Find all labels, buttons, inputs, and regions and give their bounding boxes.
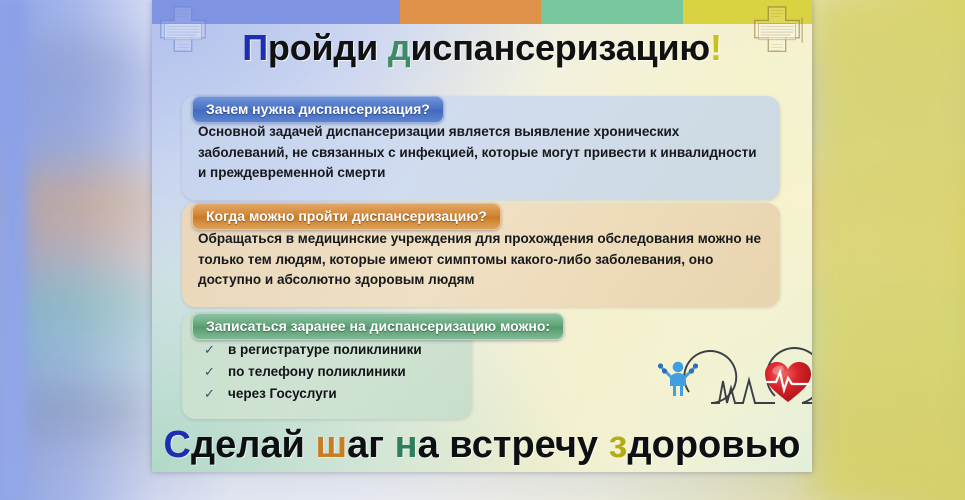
top-band-orange bbox=[400, 0, 542, 24]
check-icon: ✓ bbox=[204, 339, 214, 360]
backdrop-left-edge bbox=[0, 0, 26, 500]
info-block-why: Зачем нужна диспансеризация? Основной за… bbox=[182, 96, 780, 200]
check-icon: ✓ bbox=[204, 361, 214, 382]
info-block-signup: Записаться заранее на диспансеризацию мо… bbox=[182, 313, 472, 419]
person-dumbbells-icon bbox=[658, 362, 698, 396]
slogan-word-zdorovyu: доровью bbox=[628, 424, 801, 466]
block-header-pill-why: Зачем нужна диспансеризация? bbox=[192, 96, 444, 123]
title-word-proydi: ройди bbox=[268, 27, 388, 68]
slogan-initial-n: н bbox=[395, 424, 418, 466]
poster-slogan: Сделай шаг на встречу здоровью bbox=[152, 426, 812, 464]
list-item-label: в регистратуре поликлиники bbox=[228, 339, 422, 361]
info-block-when: Когда можно пройти диспансеризацию? Обра… bbox=[182, 203, 780, 307]
health-icons-group bbox=[647, 340, 812, 418]
list-item-label: через Госуслуги bbox=[228, 383, 337, 405]
poster-title: Пройди диспансеризацию! bbox=[152, 30, 812, 66]
slogan-word-sdelay: делай bbox=[191, 424, 315, 466]
slogan-word-navstrechu: а встречу bbox=[418, 424, 609, 466]
slogan-initial-sh: ш bbox=[315, 424, 347, 466]
title-exclamation: ! bbox=[710, 27, 722, 68]
list-item: ✓ через Госуслуги bbox=[204, 383, 456, 405]
title-word-dispanserizatsiyu: испансеризацию bbox=[410, 27, 709, 68]
slogan-initial-s: С bbox=[164, 424, 191, 466]
block-body-when: Обращаться в медицинские учреждения для … bbox=[198, 229, 764, 291]
list-item: ✓ по телефону поликлиники bbox=[204, 361, 456, 383]
title-initial-p: П bbox=[242, 27, 268, 68]
title-initial-d: д bbox=[388, 27, 411, 68]
heart-pulse-icon bbox=[765, 362, 811, 402]
check-icon: ✓ bbox=[204, 383, 214, 404]
slogan-initial-z: з bbox=[609, 424, 628, 466]
signup-options-list: ✓ в регистратуре поликлиники ✓ по телефо… bbox=[204, 339, 456, 405]
block-body-why: Основной задачей диспансеризации являетс… bbox=[198, 122, 764, 184]
block-header-pill-when: Когда можно пройти диспансеризацию? bbox=[192, 203, 501, 230]
slogan-word-shag: аг bbox=[347, 424, 395, 466]
poster: Пройди диспансеризацию! Зачем нужна дисп… bbox=[152, 0, 812, 472]
top-color-bands bbox=[152, 0, 812, 24]
block-header-pill-signup: Записаться заранее на диспансеризацию мо… bbox=[192, 313, 564, 340]
list-item-label: по телефону поликлиники bbox=[228, 361, 406, 383]
list-item: ✓ в регистратуре поликлиники bbox=[204, 339, 456, 361]
top-band-green bbox=[541, 0, 683, 24]
backdrop-right-edge bbox=[815, 0, 965, 500]
